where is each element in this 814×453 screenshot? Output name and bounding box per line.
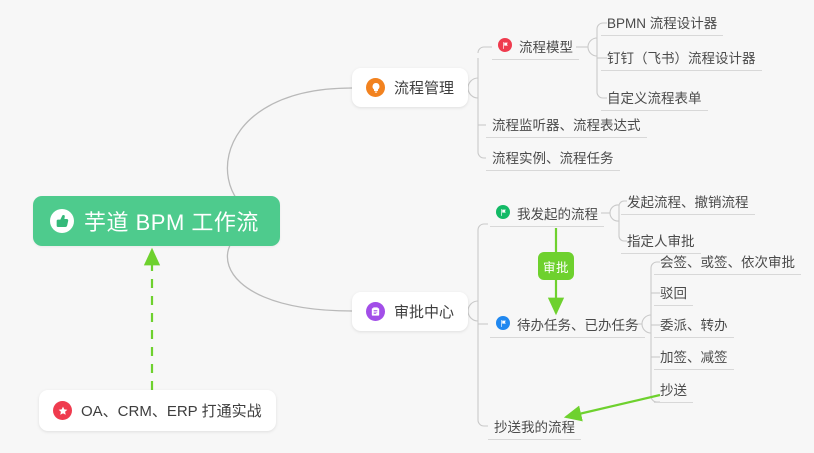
flag-icon <box>496 205 510 219</box>
leaf-custom-form[interactable]: 自定义流程表单 <box>601 86 708 111</box>
edge-my-initiated-corner-b <box>610 213 619 221</box>
edge-approval-center-corner-a <box>468 301 478 311</box>
leaf-cc-label: 抄送 <box>660 383 687 398</box>
leaf-process-instance-label: 流程实例、流程任务 <box>492 151 614 166</box>
flag-icon <box>496 316 510 330</box>
thumbs-up-icon <box>50 209 74 233</box>
edge-process-management-corner-a <box>468 78 478 88</box>
leaf-custom-form-label: 自定义流程表单 <box>607 91 702 106</box>
leaf-cc-to-me-label: 抄送我的流程 <box>494 420 575 435</box>
leaf-my-initiated-label: 我发起的流程 <box>517 207 598 222</box>
leaf-my-initiated[interactable]: 我发起的流程 <box>490 202 604 227</box>
leaf-process-instance[interactable]: 流程实例、流程任务 <box>486 146 620 171</box>
leaf-bpmn-designer-label: BPMN 流程设计器 <box>607 16 717 31</box>
leaf-process-listener[interactable]: 流程监听器、流程表达式 <box>486 113 647 138</box>
node-process-management-label: 流程管理 <box>394 77 454 98</box>
leaf-todo-done-tasks[interactable]: 待办任务、已办任务 <box>490 313 645 338</box>
leaf-cc[interactable]: 抄送 <box>654 378 693 403</box>
leaf-reject-label: 驳回 <box>660 286 687 301</box>
leaf-start-revoke-process[interactable]: 发起流程、撤销流程 <box>621 190 755 215</box>
leaf-add-remove-sign-label: 加签、减签 <box>660 350 728 365</box>
edge-process-model-corner-a <box>588 38 597 47</box>
star-icon <box>53 401 72 420</box>
node-integration-note[interactable]: OA、CRM、ERP 打通实战 <box>39 390 276 431</box>
leaf-dingtalk-designer[interactable]: 钉钉（飞书）流程设计器 <box>601 46 762 71</box>
leaf-bpmn-designer[interactable]: BPMN 流程设计器 <box>601 11 723 36</box>
node-integration-note-label: OA、CRM、ERP 打通实战 <box>81 400 262 421</box>
leaf-add-remove-sign[interactable]: 加签、减签 <box>654 345 734 370</box>
leaf-todo-done-tasks-label: 待办任务、已办任务 <box>517 318 639 333</box>
clipboard-icon <box>366 302 385 321</box>
node-approval-center[interactable]: 审批中心 <box>352 292 468 331</box>
leaf-delegate-transfer-label: 委派、转办 <box>660 318 728 333</box>
leaf-process-model-label: 流程模型 <box>519 40 573 55</box>
badge-approval: 审批 <box>538 252 574 280</box>
edge-to-process-instance <box>478 152 486 158</box>
edge-process-management-corner-b <box>468 88 478 98</box>
leaf-countersign[interactable]: 会签、或签、依次审批 <box>654 250 801 275</box>
leaf-process-model[interactable]: 流程模型 <box>492 35 579 60</box>
badge-approval-label: 审批 <box>543 257 569 276</box>
leaf-assignee-approval-label: 指定人审批 <box>627 234 695 249</box>
flow-arrow-cc-to-cc-my-process <box>566 395 660 417</box>
mindmap-canvas: 芋道 BPM 工作流 流程管理 审批中心 OA、CR <box>0 0 814 453</box>
node-process-management[interactable]: 流程管理 <box>352 68 468 107</box>
leaf-start-revoke-process-label: 发起流程、撤销流程 <box>627 195 749 210</box>
leaf-reject[interactable]: 驳回 <box>654 281 693 306</box>
leaf-countersign-label: 会签、或签、依次审批 <box>660 255 795 270</box>
root-label: 芋道 BPM 工作流 <box>84 205 259 237</box>
edge-to-cc-to-me <box>478 420 488 426</box>
edge-my-initiated-corner-a <box>610 205 619 213</box>
leaf-process-listener-label: 流程监听器、流程表达式 <box>492 118 641 133</box>
root-node[interactable]: 芋道 BPM 工作流 <box>33 196 280 246</box>
leaf-cc-to-me[interactable]: 抄送我的流程 <box>488 415 581 440</box>
leaf-delegate-transfer[interactable]: 委派、转办 <box>654 313 734 338</box>
edge-process-model-corner-b <box>588 47 597 56</box>
edge-to-my-initiated <box>478 224 488 230</box>
leaf-dingtalk-designer-label: 钉钉（飞书）流程设计器 <box>607 51 756 66</box>
edge-approval-center-corner-b <box>468 311 478 321</box>
node-approval-center-label: 审批中心 <box>394 301 454 322</box>
flag-icon <box>498 38 512 52</box>
edge-to-process-model <box>478 47 492 53</box>
lightbulb-icon <box>366 78 385 97</box>
